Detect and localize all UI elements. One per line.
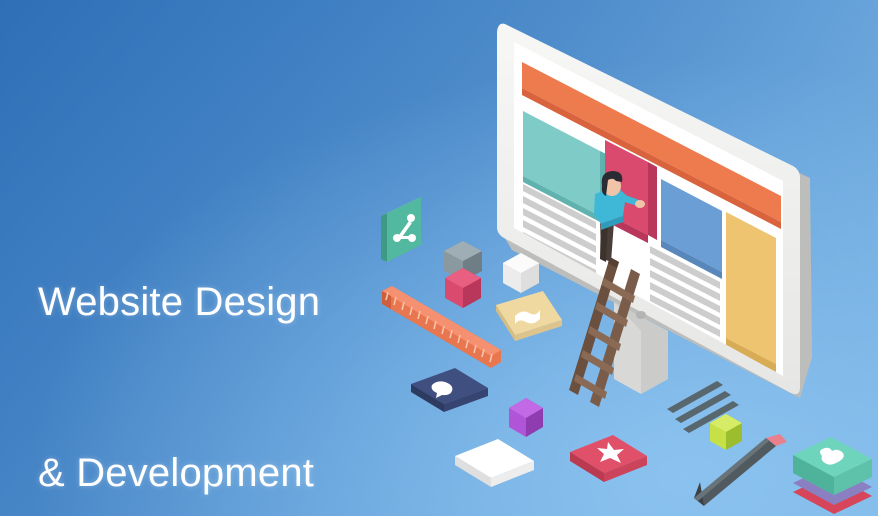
banner-illustration: Website Design & Development [0,0,878,516]
tan-image-card [496,291,562,341]
orange-ruler [382,286,501,368]
headline-line-2: & Development [38,445,368,502]
white-card [455,439,534,487]
page-title: Website Design & Development [38,160,368,516]
navy-comment-card [411,368,488,412]
character-hand [635,200,645,208]
headline-line-1: Website Design [38,274,368,331]
yellow-content-block [726,212,776,372]
lime-cube [710,414,742,450]
red-star-card [570,435,647,482]
purple-cube [509,398,543,437]
stacked-heart-cards [793,437,872,514]
share-node-card [381,197,421,262]
grey-pencil [694,434,787,506]
desktop-monitor [497,24,812,398]
monitor-led-dot [636,311,646,319]
